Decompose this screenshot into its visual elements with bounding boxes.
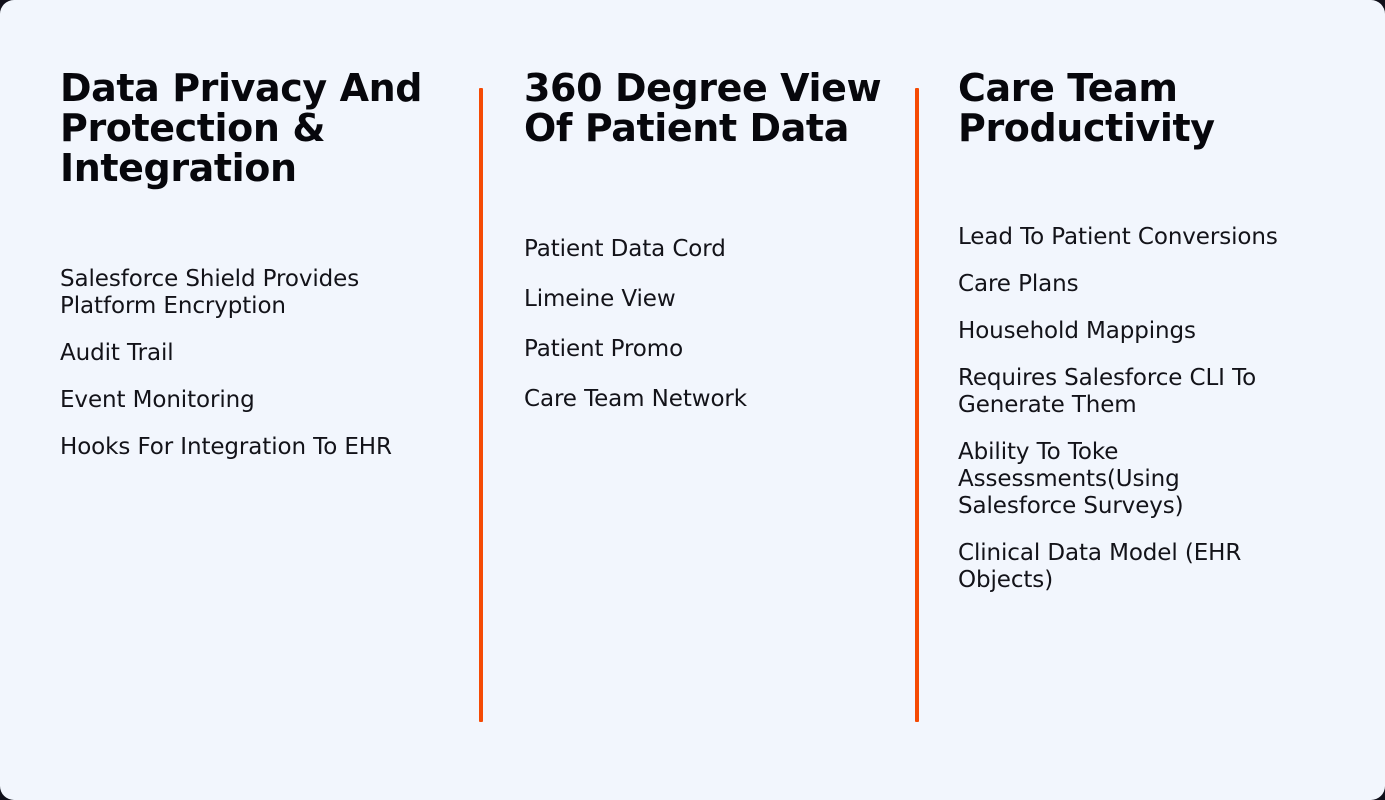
infographic-page: Data Privacy And Protection & Integratio… [0,0,1385,800]
list-item: Care Team Network [524,386,874,413]
column-item-list: Salesforce Shield Provides Platform Encr… [60,266,451,461]
column-item-list: Patient Data Cord Limeine View Patient P… [524,236,892,413]
column-360-view: 360 Degree View Of Patient Data Patient … [481,0,916,800]
list-item: Audit Trail [60,340,430,367]
list-item: Care Plans [958,271,1318,298]
column-title: 360 Degree View Of Patient Data [524,68,884,148]
column-container: Data Privacy And Protection & Integratio… [0,0,1385,800]
column-data-privacy: Data Privacy And Protection & Integratio… [0,0,481,800]
column-item-list: Lead To Patient Conversions Care Plans H… [958,224,1355,594]
list-item: Household Mappings [958,318,1318,345]
list-item: Requires Salesforce CLI To Generate Them [958,365,1318,419]
list-item: Salesforce Shield Provides Platform Encr… [60,266,430,320]
list-item: Patient Data Cord [524,236,874,263]
list-item: Event Monitoring [60,387,430,414]
list-item: Clinical Data Model (EHR Objects) [958,540,1318,594]
list-item: Patient Promo [524,336,874,363]
column-title: Care Team Productivity [958,68,1288,148]
list-item: Lead To Patient Conversions [958,224,1318,251]
column-title: Data Privacy And Protection & Integratio… [60,68,440,188]
list-item: Ability To Toke Assessments(Using Salesf… [958,439,1318,520]
column-care-team-productivity: Care Team Productivity Lead To Patient C… [916,0,1385,800]
list-item: Limeine View [524,286,874,313]
list-item: Hooks For Integration To EHR [60,434,430,461]
